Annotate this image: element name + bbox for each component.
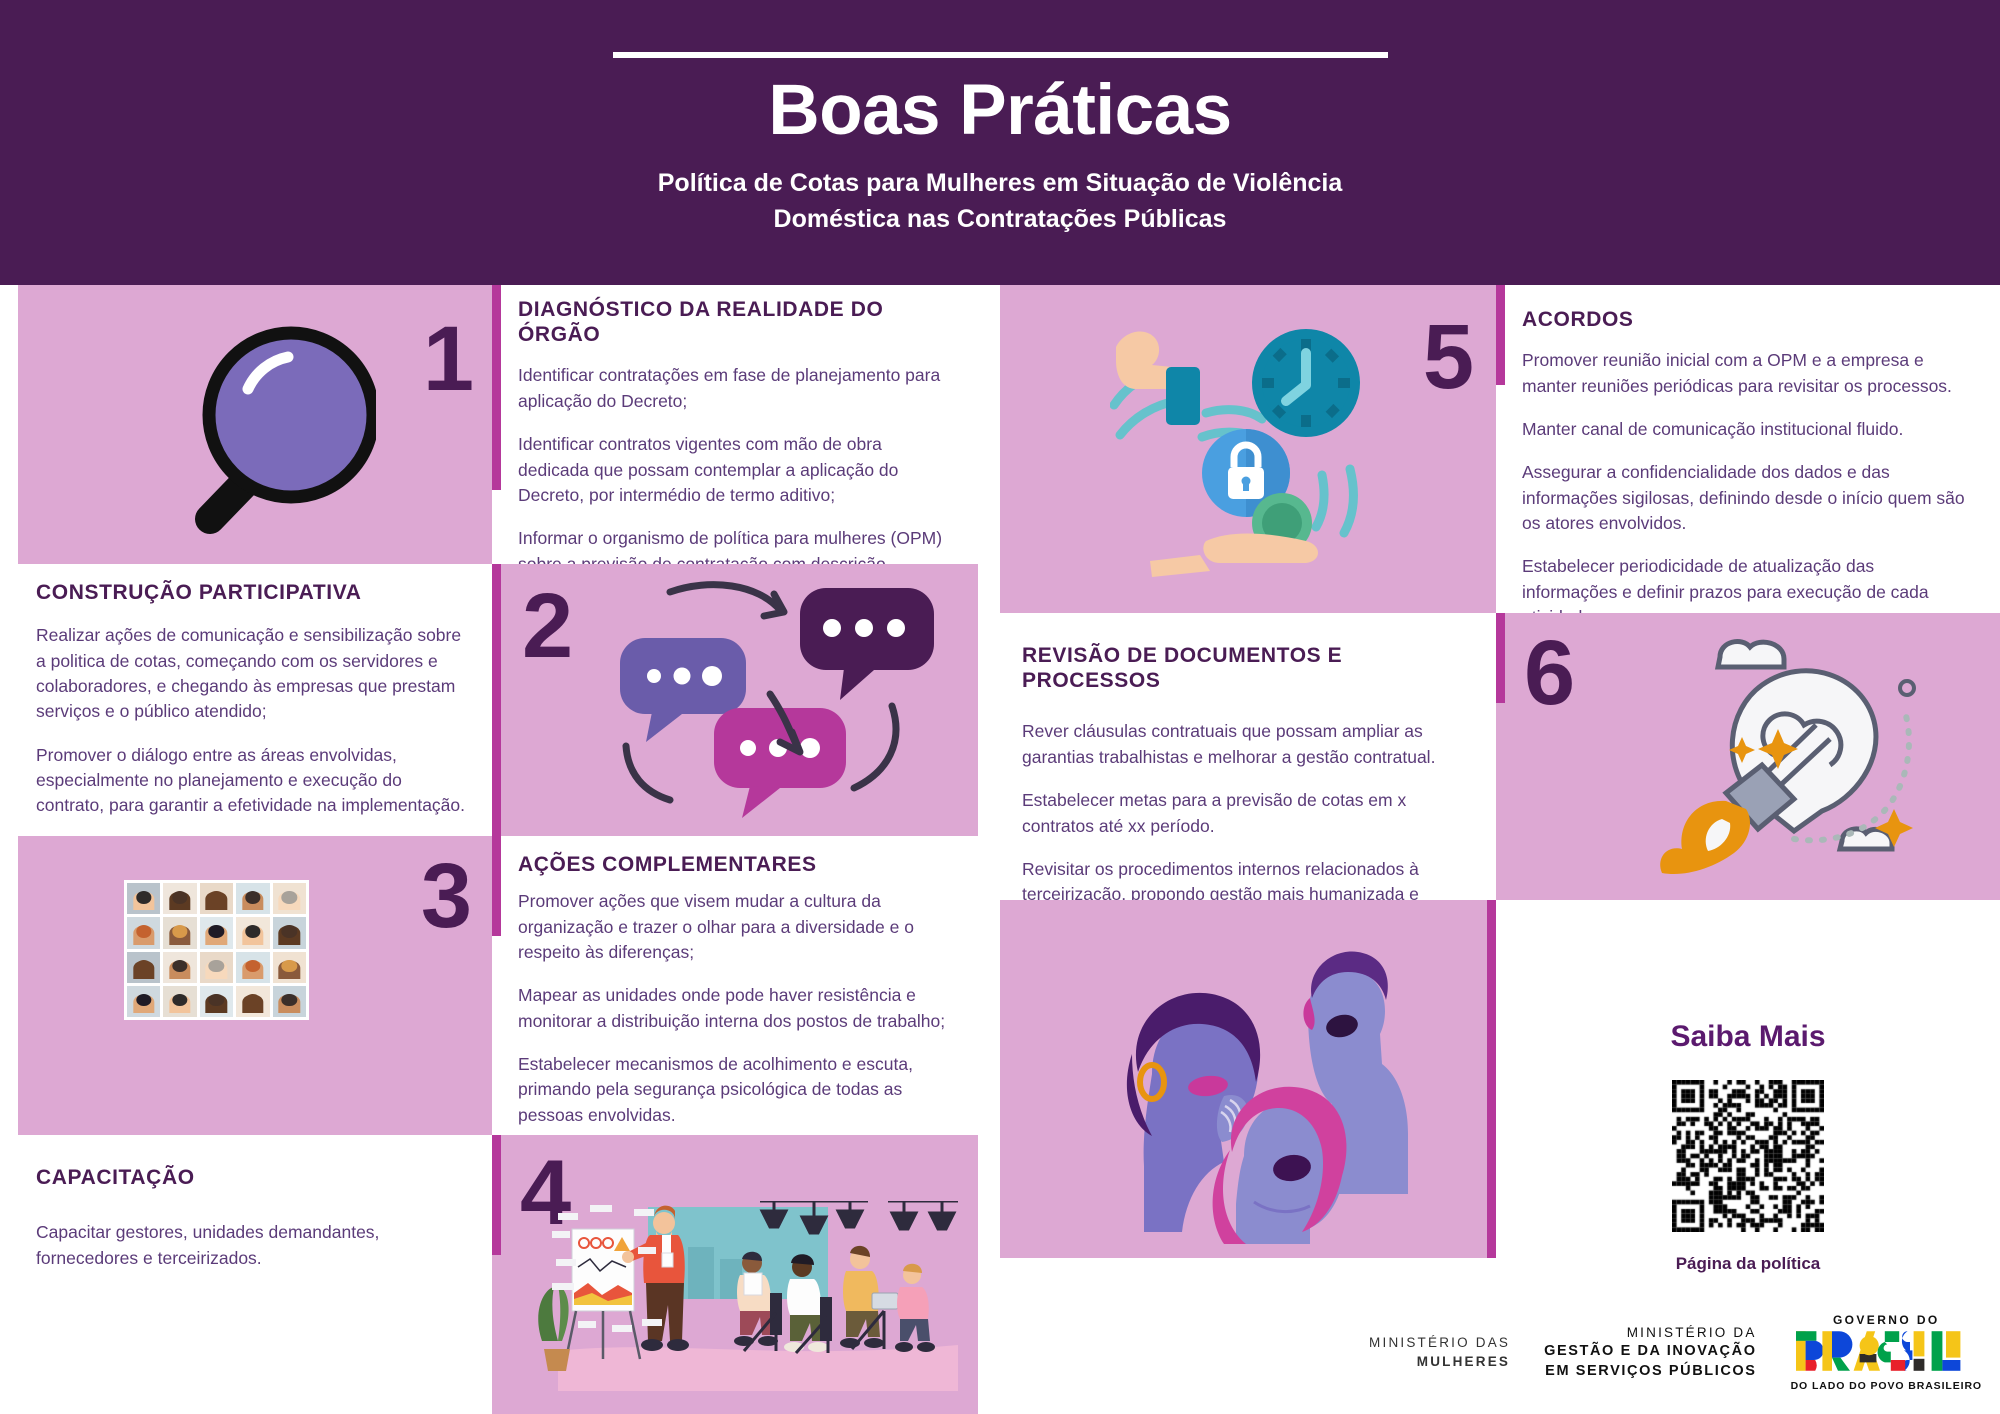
section-6-number: 6 (1524, 627, 1575, 719)
video-tile (273, 952, 306, 983)
video-tile (127, 917, 160, 948)
logo-gestao-line-1: MINISTÉRIO DA (1544, 1324, 1756, 1342)
section-3-paragraph-2: Mapear as unidades onde pode haver resis… (518, 983, 956, 1034)
page-subtitle-line-1: Política de Cotas para Mulheres em Situa… (658, 165, 1343, 201)
header-divider-rule (613, 52, 1388, 58)
section-3-text-panel: AÇÕES COMPLEMENTARES Promover ações que … (492, 836, 978, 1135)
handshake-clock-lock-icon (1110, 309, 1400, 579)
section-3-image-panel: 3 (18, 836, 492, 1135)
section-6-paragraph-2: Estabelecer metas para a previsão de cot… (1022, 788, 1466, 839)
section-5-paragraph-3: Assegurar a confidencialidade dos dados … (1522, 460, 1970, 536)
video-tile (236, 952, 269, 983)
logo-gestao-line-2: GESTÃO E DA INOVAÇÃO (1544, 1342, 1756, 1362)
section-1-title: DIAGNÓSTICO DA REALIDADE DO ÓRGÃO (518, 297, 956, 347)
video-tile (236, 917, 269, 948)
lightbulb-rocket-icon (1626, 633, 1956, 883)
saiba-mais-panel: Saiba Mais Página da política (1496, 900, 2000, 1320)
section-5-accent-bar (1496, 285, 1505, 385)
page-title: Boas Práticas (768, 74, 1231, 149)
section-5-paragraph-2: Manter canal de comunicação instituciona… (1522, 417, 1970, 442)
section-2-title: CONSTRUÇÃO PARTICIPATIVA (36, 580, 466, 605)
section-1-paragraph-1: Identificar contratações em fase de plan… (518, 363, 956, 414)
section-5-number: 5 (1423, 311, 1474, 403)
video-tile (163, 917, 196, 948)
section-6-image-panel: 6 (1496, 613, 2000, 900)
section-3-paragraph-3: Estabelecer mecanismos de acolhimento e … (518, 1052, 956, 1128)
video-tile (236, 986, 269, 1017)
logo-governo-top: GOVERNO DO (1791, 1313, 1982, 1327)
section-5-body: Promover reunião inicial com a OPM e a e… (1522, 348, 1970, 613)
section-3-body: Promover ações que visem mudar a cultura… (518, 889, 956, 1128)
section-1-body: Identificar contratações em fase de plan… (518, 363, 956, 564)
page-subtitle: Política de Cotas para Mulheres em Situa… (658, 165, 1343, 238)
section-1-image-panel: 1 (18, 285, 492, 564)
poster-header: Boas Práticas Política de Cotas para Mul… (0, 0, 2000, 285)
section-6-accent-bar (1496, 613, 1505, 703)
section-3-title: AÇÕES COMPLEMENTARES (518, 852, 956, 877)
section-5-paragraph-1: Promover reunião inicial com a OPM e a e… (1522, 348, 1970, 399)
video-tile (236, 883, 269, 914)
footer-logos: MINISTÉRIO DAS MULHERES MINISTÉRIO DA GE… (1369, 1313, 1982, 1392)
video-tile (200, 883, 233, 914)
section-6-text-panel: REVISÃO DE DOCUMENTOS E PROCESSOS Rever … (1000, 613, 1496, 900)
video-tile (127, 986, 160, 1017)
logo-governo-do-brasil: GOVERNO DO (1791, 1313, 1982, 1392)
brasil-wordmark-icon (1796, 1330, 1976, 1372)
section-6-title: REVISÃO DE DOCUMENTOS E PROCESSOS (1022, 643, 1466, 693)
logo-ministerio-das-mulheres: MINISTÉRIO DAS MULHERES (1369, 1334, 1510, 1370)
video-tile (200, 952, 233, 983)
video-call-grid-icon (124, 880, 309, 1020)
video-tile (273, 986, 306, 1017)
saiba-mais-caption: Página da política (1496, 1254, 2000, 1274)
section-3-number: 3 (421, 850, 472, 942)
video-tile (273, 917, 306, 948)
section-2-accent-bar (492, 564, 501, 836)
qr-code[interactable] (1672, 1080, 1824, 1232)
saiba-mais-block: Saiba Mais Página da política (1496, 1020, 2000, 1274)
section-2-number: 2 (522, 580, 573, 672)
magnifying-glass-icon (136, 311, 376, 539)
section-5-text-panel: ACORDOS Promover reunião inicial com a O… (1496, 285, 2000, 613)
section-1-paragraph-2: Identificar contratos vigentes com mão d… (518, 432, 956, 508)
footer: MINISTÉRIO DAS MULHERES MINISTÉRIO DA GE… (0, 1294, 2000, 1414)
section-4-accent-bar (492, 1135, 501, 1255)
section-4-paragraph-1: Capacitar gestores, unidades demandantes… (36, 1220, 466, 1271)
section-2-paragraph-2: Promover o diálogo entre as áreas envolv… (36, 743, 466, 819)
video-tile (200, 917, 233, 948)
video-tile (163, 883, 196, 914)
video-tile (127, 883, 160, 914)
section-5-paragraph-4: Estabelecer periodicidade de atualização… (1522, 554, 1970, 613)
three-women-illustration (1096, 914, 1426, 1244)
video-tile (200, 986, 233, 1017)
video-tile (163, 986, 196, 1017)
logo-ministerio-gestao: MINISTÉRIO DA GESTÃO E DA INOVAÇÃO EM SE… (1544, 1324, 1756, 1381)
sections-board: 1 DIAGNÓSTICO DA REALIDADE DO ÓRGÃO Iden… (0, 285, 2000, 1414)
section-1-text-panel: DIAGNÓSTICO DA REALIDADE DO ÓRGÃO Identi… (492, 285, 978, 564)
speech-bubbles-icon (592, 576, 952, 826)
section-2-body: Realizar ações de comunicação e sensibil… (36, 623, 466, 819)
logo-governo-tagline: DO LADO DO POVO BRASILEIRO (1791, 1380, 1982, 1392)
section-3-accent-bar (492, 836, 501, 936)
section-5-title: ACORDOS (1522, 307, 1970, 332)
video-tile (127, 952, 160, 983)
section-3-paragraph-1: Promover ações que visem mudar a cultura… (518, 889, 956, 965)
logo-mulheres-line-1: MINISTÉRIO DAS (1369, 1334, 1510, 1352)
section-1-number: 1 (423, 313, 474, 405)
video-tile (163, 952, 196, 983)
women-panel-accent-bar (1487, 900, 1496, 1258)
logo-mulheres-line-2: MULHERES (1369, 1353, 1510, 1371)
section-2-text-panel: CONSTRUÇÃO PARTICIPATIVA Realizar ações … (18, 564, 492, 836)
page-subtitle-line-2: Doméstica nas Contratações Públicas (658, 201, 1343, 237)
section-2-paragraph-1: Realizar ações de comunicação e sensibil… (36, 623, 466, 725)
section-1-accent-bar (492, 285, 501, 490)
women-illustration-panel (1000, 900, 1496, 1258)
section-6-paragraph-3: Revisitar os procedimentos internos rela… (1022, 857, 1466, 900)
saiba-mais-title: Saiba Mais (1496, 1020, 2000, 1054)
section-5-image-panel: 5 (1000, 285, 1496, 613)
section-4-body: Capacitar gestores, unidades demandantes… (36, 1220, 466, 1271)
section-6-body: Rever cláusulas contratuais que possam a… (1022, 719, 1466, 900)
poster-root: Boas Práticas Política de Cotas para Mul… (0, 0, 2000, 1414)
section-1-paragraph-3: Informar o organismo de política para mu… (518, 526, 956, 564)
section-2-image-panel: 2 (492, 564, 978, 836)
video-tile (273, 883, 306, 914)
logo-gestao-line-3: EM SERVIÇOS PÚBLICOS (1544, 1362, 1756, 1382)
section-6-paragraph-1: Rever cláusulas contratuais que possam a… (1022, 719, 1466, 770)
section-4-title: CAPACITAÇÃO (36, 1165, 466, 1190)
